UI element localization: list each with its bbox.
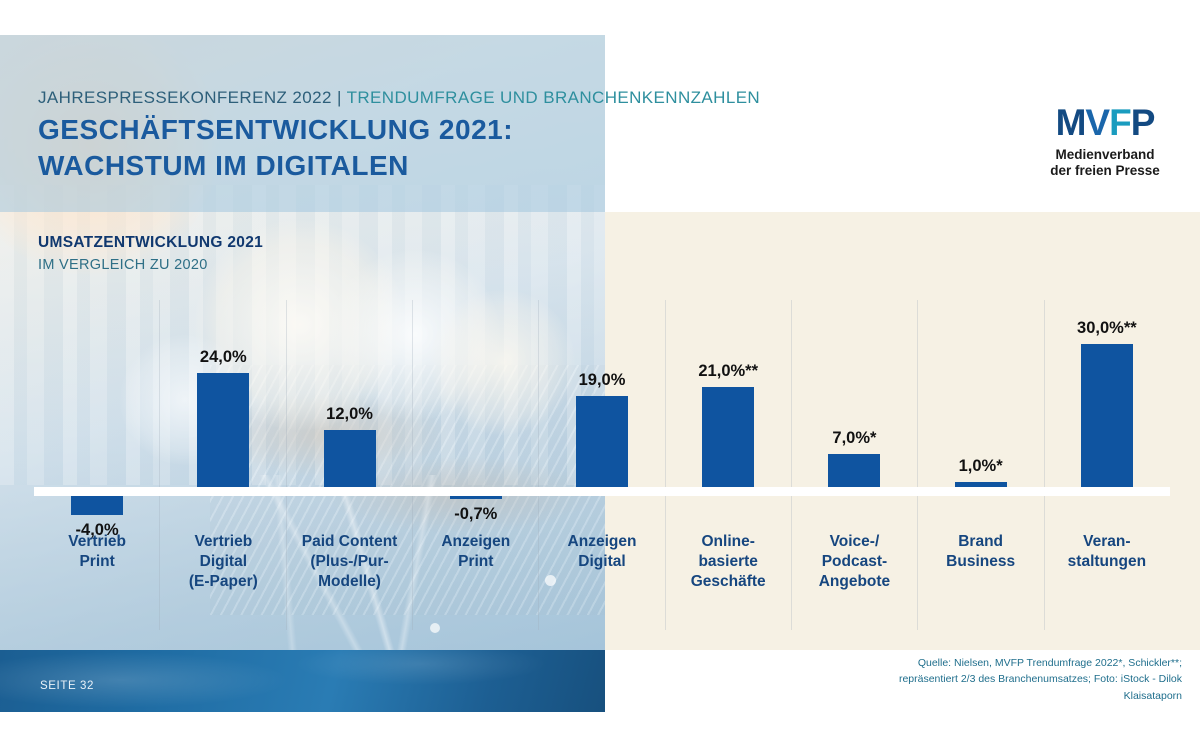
chart-category-label-line: Business bbox=[911, 552, 1051, 572]
chart-column[interactable]: -4,0%VertriebPrint bbox=[34, 300, 160, 630]
chart-column[interactable]: 24,0%VertriebDigital(E-Paper) bbox=[160, 300, 286, 630]
chart-category-label-line: Vertrieb bbox=[153, 532, 293, 552]
page-number: SEITE 32 bbox=[40, 680, 94, 692]
chart-category-label-line: Online- bbox=[658, 532, 798, 552]
chart-category-label: Voice-/Podcast-Angebote bbox=[784, 532, 924, 592]
chart-bar[interactable] bbox=[828, 454, 880, 487]
chart-category-label: AnzeigenPrint bbox=[406, 532, 546, 572]
chart-category-label-line: Voice-/ bbox=[784, 532, 924, 552]
chart-column[interactable]: 21,0%**Online-basierteGeschäfte bbox=[665, 300, 791, 630]
chart-bar[interactable] bbox=[1081, 344, 1133, 487]
chart-category-label-line: Print bbox=[406, 552, 546, 572]
chart-category-label-line: (Plus-/Pur- bbox=[280, 552, 420, 572]
logo-wordmark: MVFP bbox=[1035, 104, 1175, 141]
chart-category-label-line: Podcast- bbox=[784, 552, 924, 572]
chart-bar-value-label: 1,0%* bbox=[959, 457, 1003, 476]
chart-bar[interactable] bbox=[450, 496, 502, 499]
logo-letter-m: M bbox=[1056, 102, 1086, 143]
chart-category-label-line: Anzeigen bbox=[532, 532, 672, 552]
chart-bar[interactable] bbox=[197, 373, 249, 487]
bar-chart: -4,0%VertriebPrint24,0%VertriebDigital(E… bbox=[34, 300, 1170, 630]
chart-category-label-line: Brand bbox=[911, 532, 1051, 552]
chart-category-label: VertriebDigital(E-Paper) bbox=[153, 532, 293, 592]
logo-subtitle: Medienverband der freien Presse bbox=[1035, 147, 1175, 180]
chart-column[interactable]: 19,0%AnzeigenDigital bbox=[539, 300, 665, 630]
chart-category-label: Online-basierteGeschäfte bbox=[658, 532, 798, 592]
source-note: Quelle: Nielsen, MVFP Trendumfrage 2022*… bbox=[802, 655, 1182, 704]
source-line-2: repräsentiert 2/3 des Branchenumsatzes; … bbox=[802, 671, 1182, 687]
source-line-1: Quelle: Nielsen, MVFP Trendumfrage 2022*… bbox=[802, 655, 1182, 671]
chart-category-label-line: Veran- bbox=[1037, 532, 1177, 552]
headline-line-1: GESCHÄFTSENTWICKLUNG 2021: bbox=[38, 112, 513, 148]
chart-category-label-line: Digital bbox=[532, 552, 672, 572]
chart-category-label: Paid Content(Plus-/Pur-Modelle) bbox=[280, 532, 420, 592]
chart-category-label: VertriebPrint bbox=[27, 532, 167, 572]
header-kicker: JAHRESPRESSEKONFERENZ 2022 | TRENDUMFRAG… bbox=[38, 88, 760, 108]
chart-bar[interactable] bbox=[71, 496, 123, 515]
chart-bar-value-label: 12,0% bbox=[326, 405, 373, 424]
chart-category-label-line: Anzeigen bbox=[406, 532, 546, 552]
chart-category-label: AnzeigenDigital bbox=[532, 532, 672, 572]
chart-category-label-line: Geschäfte bbox=[658, 572, 798, 592]
chart-bar-value-label: -0,7% bbox=[454, 505, 497, 524]
chart-category-label-line: Paid Content bbox=[280, 532, 420, 552]
chart-column[interactable]: 7,0%*Voice-/Podcast-Angebote bbox=[791, 300, 917, 630]
chart-bar[interactable] bbox=[955, 482, 1007, 487]
chart-bar-value-label: 7,0%* bbox=[832, 429, 876, 448]
chart-category-label-line: Digital bbox=[153, 552, 293, 572]
slide-canvas: JAHRESPRESSEKONFERENZ 2022 | TRENDUMFRAG… bbox=[0, 0, 1200, 750]
chart-column[interactable]: -0,7%AnzeigenPrint bbox=[413, 300, 539, 630]
chart-column[interactable]: 1,0%*BrandBusiness bbox=[918, 300, 1044, 630]
logo-letter-f: F bbox=[1109, 102, 1131, 143]
chart-column[interactable]: 30,0%**Veran-staltungen bbox=[1044, 300, 1170, 630]
kicker-primary: JAHRESPRESSEKONFERENZ 2022 | bbox=[38, 88, 347, 107]
chart-columns: -4,0%VertriebPrint24,0%VertriebDigital(E… bbox=[34, 300, 1170, 630]
source-line-3: Klaisataporn bbox=[802, 688, 1182, 704]
chart-bar-value-label: 30,0%** bbox=[1077, 319, 1137, 338]
logo-subtitle-line-1: Medienverband bbox=[1035, 147, 1175, 163]
logo-letter-v: V bbox=[1085, 102, 1109, 143]
chart-category-label-line: staltungen bbox=[1037, 552, 1177, 572]
chart-category-label-line: (E-Paper) bbox=[153, 572, 293, 592]
mvfp-logo: MVFP Medienverband der freien Presse bbox=[1035, 104, 1175, 180]
chart-category-label: BrandBusiness bbox=[911, 532, 1051, 572]
chart-category-label-line: Print bbox=[27, 552, 167, 572]
logo-subtitle-line-2: der freien Presse bbox=[1035, 163, 1175, 179]
headline-line-2: WACHSTUM IM DIGITALEN bbox=[38, 148, 513, 184]
chart-bar[interactable] bbox=[576, 396, 628, 487]
chart-bar-value-label: 24,0% bbox=[200, 348, 247, 367]
chart-column[interactable]: 12,0%Paid Content(Plus-/Pur-Modelle) bbox=[286, 300, 412, 630]
chart-title: UMSATZENTWICKLUNG 2021 bbox=[38, 234, 263, 252]
chart-category-label-line: basierte bbox=[658, 552, 798, 572]
logo-letter-p: P bbox=[1131, 102, 1155, 143]
chart-bar[interactable] bbox=[702, 387, 754, 487]
chart-subtitle: IM VERGLEICH ZU 2020 bbox=[38, 257, 208, 273]
page-title: GESCHÄFTSENTWICKLUNG 2021: WACHSTUM IM D… bbox=[38, 112, 513, 184]
chart-bar[interactable] bbox=[324, 430, 376, 487]
chart-category-label-line: Vertrieb bbox=[27, 532, 167, 552]
chart-bar-value-label: 19,0% bbox=[579, 371, 626, 390]
kicker-secondary: TRENDUMFRAGE UND BRANCHENKENNZAHLEN bbox=[347, 88, 761, 107]
chart-category-label-line: Angebote bbox=[784, 572, 924, 592]
chart-category-label: Veran-staltungen bbox=[1037, 532, 1177, 572]
chart-category-label-line: Modelle) bbox=[280, 572, 420, 592]
chart-bar-value-label: 21,0%** bbox=[698, 362, 758, 381]
